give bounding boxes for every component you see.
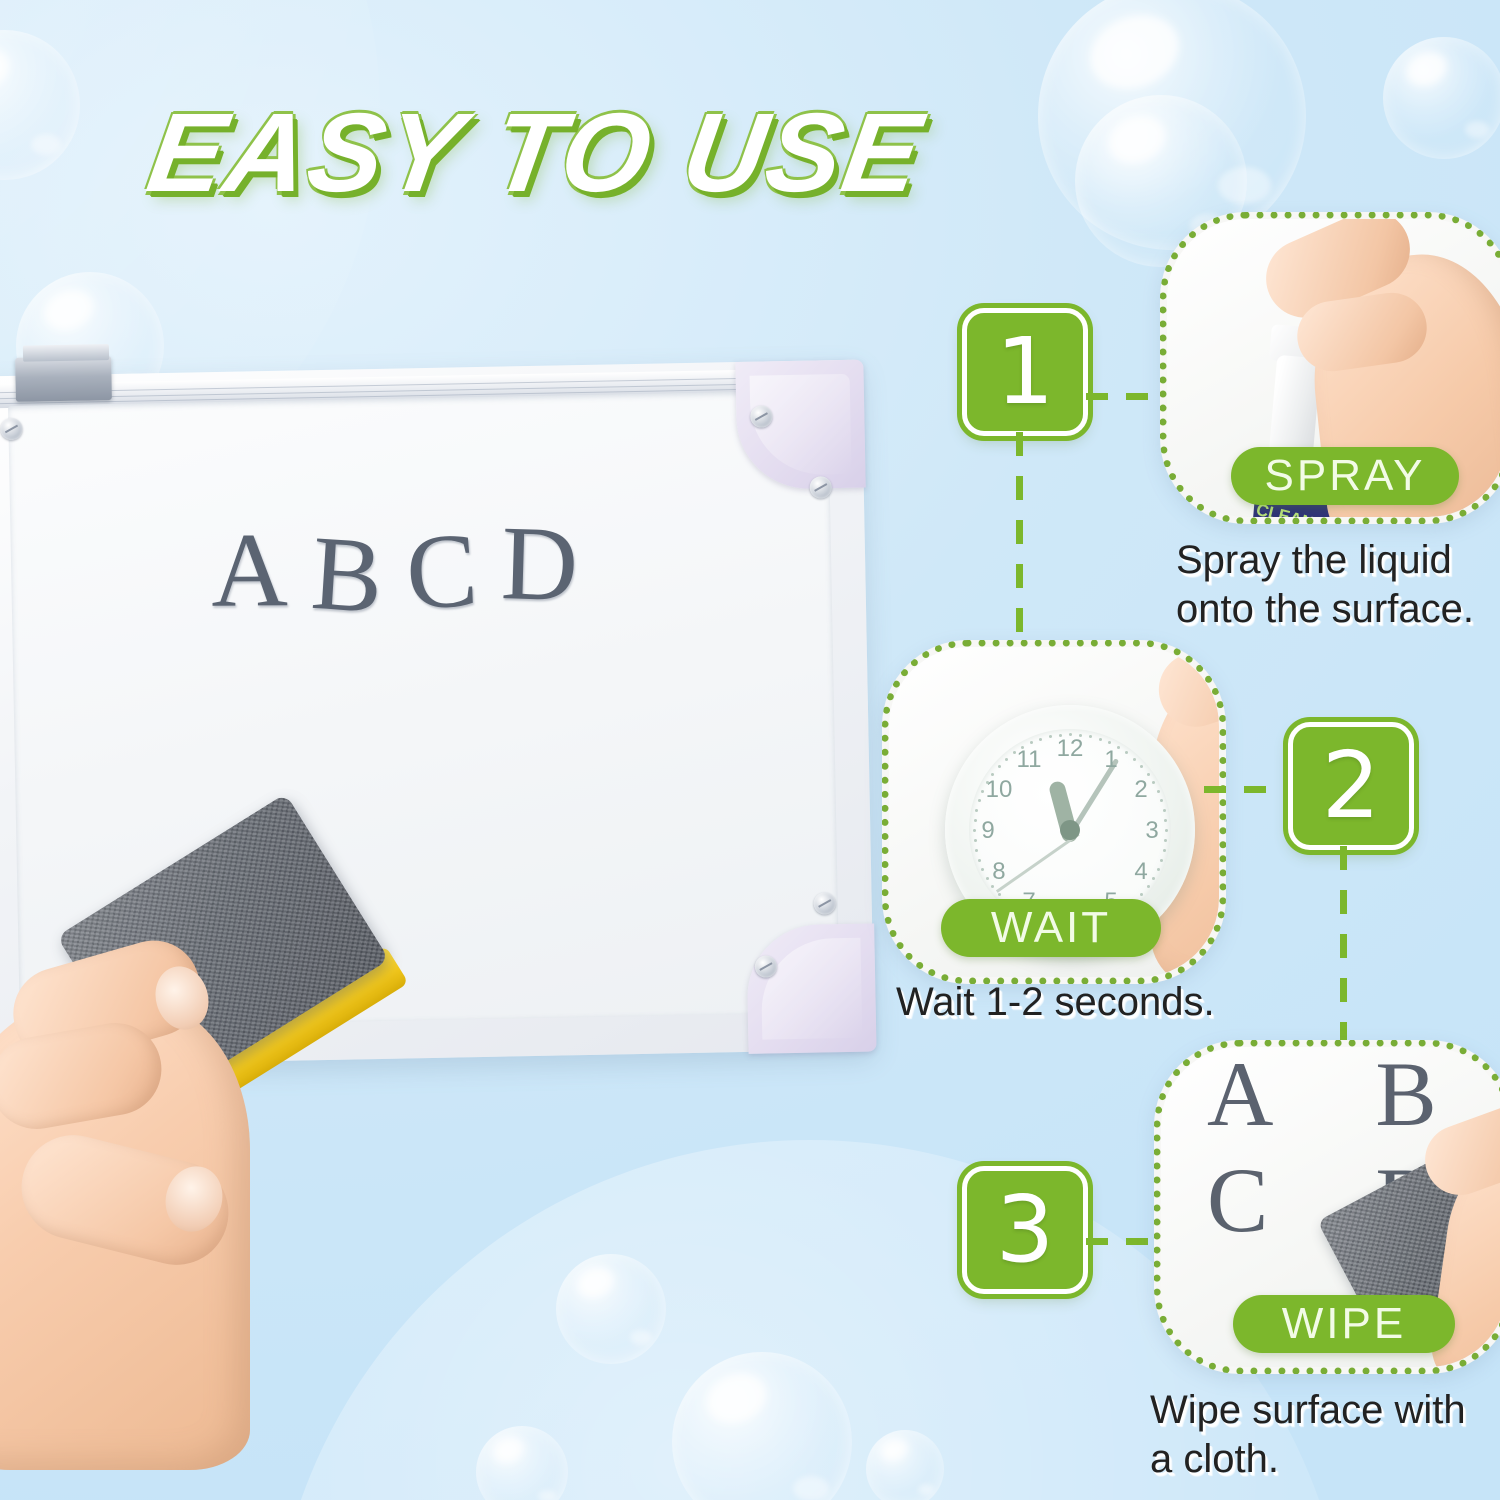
step-1-pill-label: SPRAY <box>1265 451 1426 501</box>
clock-tick <box>1160 799 1163 802</box>
clock-tick <box>986 877 989 880</box>
bubble-icon <box>866 1430 944 1500</box>
step-2-caption: Wait 1-2 seconds. <box>896 978 1316 1027</box>
step-1-pill: SPRAY <box>1231 447 1459 505</box>
clock-tick <box>978 859 981 862</box>
clock-tick <box>975 849 978 852</box>
letter-b: B <box>308 512 410 640</box>
clock-numeral-2: 2 <box>1124 776 1158 802</box>
clock-tick <box>1049 735 1052 738</box>
clock-tick <box>991 885 994 888</box>
bubble-icon <box>476 1426 568 1500</box>
step-number-3: 3 <box>996 1184 1055 1276</box>
letter-d: D <box>500 502 604 627</box>
clock-tick <box>1163 809 1166 812</box>
whiteboard-hanger-clip <box>15 356 112 402</box>
clock-tick <box>1079 734 1082 737</box>
step-number-2: 2 <box>1322 740 1381 832</box>
step-2-pill-label: WAIT <box>991 903 1111 953</box>
clock-numeral-4: 4 <box>1124 858 1158 884</box>
letter-a: A <box>211 509 312 632</box>
letter-c: C <box>403 507 505 634</box>
clock-tick <box>1039 738 1042 741</box>
step-2-pill: WAIT <box>941 899 1161 957</box>
clock-pivot <box>1060 820 1080 840</box>
clock-tick <box>1157 868 1160 871</box>
infographic-canvas: EASY TO USE ABCD <box>0 0 1500 1500</box>
hand-with-eraser-photo <box>0 880 480 1500</box>
clock-tick <box>975 809 978 812</box>
clock-tick <box>986 781 989 784</box>
clock-tick <box>1089 735 1092 738</box>
connector-dash-1 <box>1086 393 1168 400</box>
step-3-pill: WIPE <box>1233 1295 1455 1353</box>
clock-numeral-8: 8 <box>982 858 1016 884</box>
connector-dash-1-down <box>1016 432 1023 648</box>
clock-tick <box>998 893 1001 896</box>
clock-tick <box>1140 765 1143 768</box>
clock-tick <box>1005 758 1008 761</box>
connector-dash-2 <box>1204 786 1288 793</box>
step-1-caption: Spray the liquid onto the surface. <box>1176 536 1500 634</box>
clock-tick <box>974 819 977 822</box>
bubble-icon <box>556 1254 666 1364</box>
whiteboard-letters: ABCD <box>211 507 602 632</box>
step-card-3: A B C D WIPE <box>1154 1040 1500 1374</box>
clock-tick <box>1133 758 1136 761</box>
clock-tick <box>1099 738 1102 741</box>
finger <box>1149 647 1219 736</box>
clock-tick <box>1140 893 1143 896</box>
clock-tick <box>1160 859 1163 862</box>
step-card-2: 123456789101112 WAIT <box>882 640 1226 984</box>
clock-tick <box>1163 849 1166 852</box>
clock-tick <box>998 765 1001 768</box>
clock-tick <box>978 799 981 802</box>
step-card-1: WHITEBOARD CLEANER SPRAY <box>1160 212 1500 524</box>
clock-tick <box>1069 733 1072 736</box>
step-badge-2[interactable]: 2 <box>1288 722 1414 850</box>
clock-numeral-10: 10 <box>982 776 1016 802</box>
clock-tick <box>1108 741 1111 744</box>
step-badge-1[interactable]: 1 <box>962 308 1088 436</box>
clock-tick <box>1147 885 1150 888</box>
clock-tick <box>974 839 977 842</box>
clock-tick <box>1147 773 1150 776</box>
clock-tick <box>973 829 976 832</box>
clock-tick <box>1157 790 1160 793</box>
step-badge-3[interactable]: 3 <box>962 1166 1088 1294</box>
clock-numeral-11: 11 <box>1012 746 1046 772</box>
step-3-caption: Wipe surface with a cloth. <box>1150 1386 1500 1484</box>
step-number-1: 1 <box>996 326 1055 418</box>
clock-numeral-1: 1 <box>1094 746 1128 772</box>
page-title: EASY TO USE <box>140 88 931 217</box>
bubble-icon <box>1383 37 1500 159</box>
clock-numeral-12: 12 <box>1053 735 1087 761</box>
clock-tick <box>1117 746 1120 749</box>
clock-tick <box>1030 741 1033 744</box>
connector-dash-3 <box>1086 1238 1164 1245</box>
clock-tick <box>1165 829 1168 832</box>
bubble-icon <box>0 30 80 180</box>
step-3-pill-label: WIPE <box>1282 1299 1406 1349</box>
bubble-icon <box>672 1352 852 1500</box>
clock-tick <box>1021 746 1024 749</box>
clock-tick <box>1059 734 1062 737</box>
